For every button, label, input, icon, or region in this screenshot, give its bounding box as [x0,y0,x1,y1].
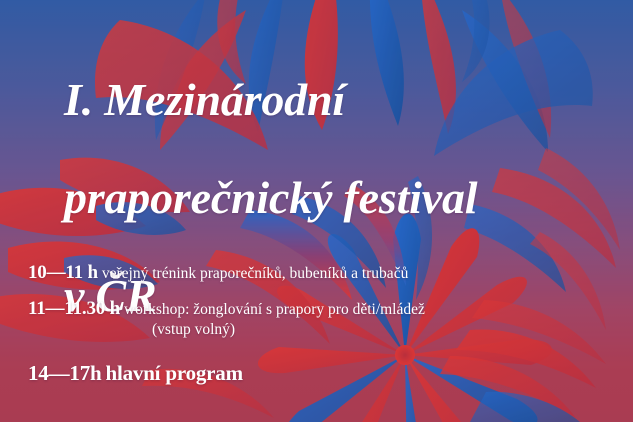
program-time: 14—17h [28,361,101,385]
program-entry: 14—17h hlavní program [28,361,628,386]
program-description: workshop: žonglování s prapory pro děti/… [124,301,425,318]
poster-canvas: I. Mezinárodní praporečnický festival v … [0,0,633,422]
program-description: hlavní program [105,361,242,385]
program-entry: 10—11 h veřejný trénink praporečníků, bu… [28,262,628,284]
program-entry: 11—11.30 h workshop: žonglování s prapor… [28,298,628,339]
title-line-1: I. Mezinárodní [64,75,633,124]
program-schedule: 10—11 h veřejný trénink praporečníků, bu… [28,262,628,400]
program-note: (vstup volný) [28,321,628,339]
program-time: 10—11 h [28,262,98,283]
title-line-2: praporečnický festival [64,173,633,222]
program-time: 11—11.30 h [28,298,120,319]
program-description: veřejný trénink praporečníků, bubeníků a… [102,265,408,282]
program-cropped-line [243,368,363,384]
